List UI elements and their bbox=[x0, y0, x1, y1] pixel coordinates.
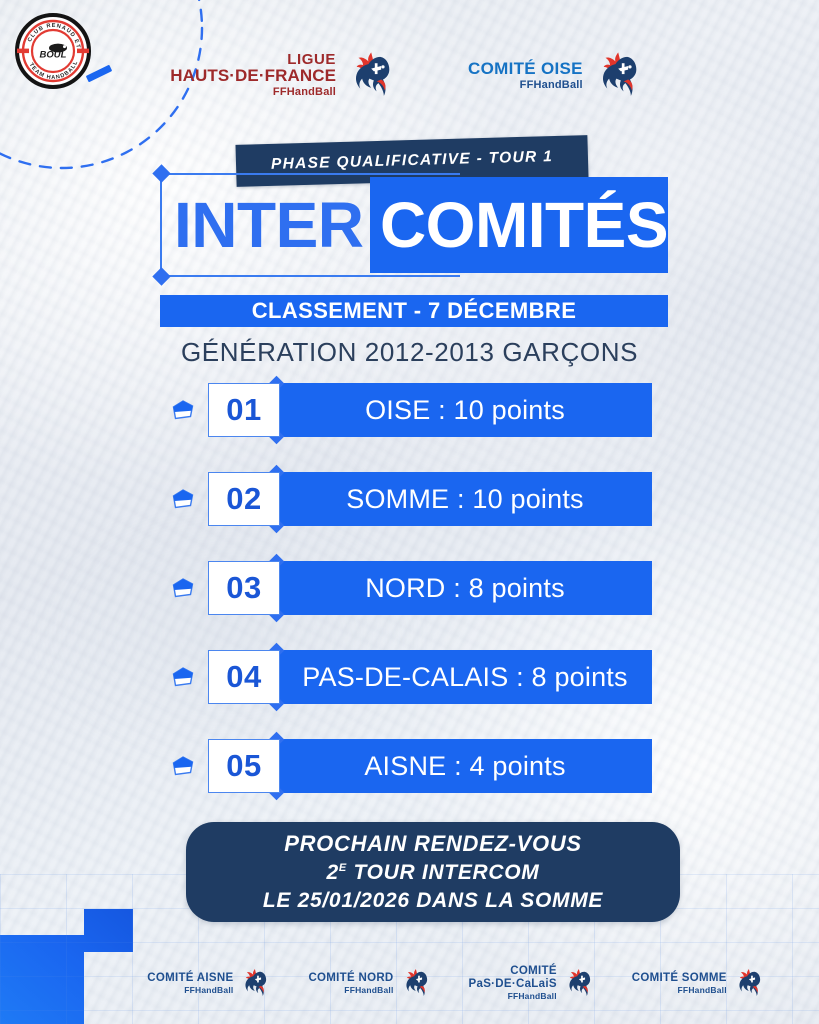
rank-result-bar: AISNE : 4 points bbox=[278, 739, 652, 793]
ffhandball-rooster-icon bbox=[562, 965, 598, 1001]
rank-result-label: SOMME : 10 points bbox=[346, 484, 584, 515]
footer-logo-nord-sub: FFHandBall bbox=[344, 986, 393, 995]
rank-result-label: NORD : 8 points bbox=[365, 573, 565, 604]
logo-comite-oise: COMITÉ OISE FFHandBall bbox=[468, 46, 649, 104]
footer-logo-pdc-line1: COMITÉ bbox=[510, 965, 557, 977]
next-meeting-line2-sup: E bbox=[339, 862, 347, 874]
header-logos: LIGUE HAUTS·DE·FRANCE FFHandBall COMITÉ … bbox=[0, 40, 819, 110]
pentagon-bullet-icon bbox=[172, 667, 194, 687]
logo-oise-wordmark: COMITÉ OISE FFHandBall bbox=[468, 60, 583, 91]
ranking-row: 03 NORD : 8 points bbox=[0, 560, 819, 616]
rank-number: 05 bbox=[226, 748, 261, 784]
generation-label: GÉNÉRATION 2012-2013 GARÇONS bbox=[0, 337, 819, 368]
rank-result-label: PAS-DE-CALAIS : 8 points bbox=[302, 662, 627, 693]
rank-number: 01 bbox=[226, 392, 261, 428]
footer-logo-aisne-line1: COMITÉ AISNE bbox=[147, 972, 233, 984]
ranking-row: 01 OISE : 10 points bbox=[0, 382, 819, 438]
rank-number: 03 bbox=[226, 570, 261, 606]
ffhandball-rooster-icon bbox=[591, 46, 649, 104]
logo-ligue-wordmark: LIGUE HAUTS·DE·FRANCE FFHandBall bbox=[170, 52, 336, 98]
rank-number-box: 04 bbox=[208, 650, 280, 704]
footer-logo-comite-aisne: COMITÉ AISNE FFHandBall bbox=[147, 965, 274, 1001]
next-meeting-line1: PROCHAIN RENDEZ-VOUS bbox=[284, 831, 582, 857]
ffhandball-rooster-icon bbox=[399, 965, 435, 1001]
ranking-row: 05 AISNE : 4 points bbox=[0, 738, 819, 794]
classement-bar: CLASSEMENT - 7 DÉCEMBRE bbox=[160, 295, 668, 327]
rank-result-bar: NORD : 8 points bbox=[278, 561, 652, 615]
footer-logo-somme-sub: FFHandBall bbox=[678, 986, 727, 995]
rank-result-bar: PAS-DE-CALAIS : 8 points bbox=[278, 650, 652, 704]
footer-logo-comite-somme: COMITÉ SOMME FFHandBall bbox=[632, 965, 768, 1001]
rank-number-box: 03 bbox=[208, 561, 280, 615]
rank-number: 04 bbox=[226, 659, 261, 695]
ffhandball-rooster-icon bbox=[732, 965, 768, 1001]
next-meeting-line2-rest: TOUR INTERCOM bbox=[347, 861, 540, 884]
pentagon-bullet-icon bbox=[172, 578, 194, 598]
pentagon-bullet-icon bbox=[172, 489, 194, 509]
classement-label: CLASSEMENT - 7 DÉCEMBRE bbox=[252, 298, 577, 324]
logo-ligue-hauts-de-france: LIGUE HAUTS·DE·FRANCE FFHandBall bbox=[170, 46, 402, 104]
logo-ligue-line2: HAUTS·DE·FRANCE bbox=[170, 67, 336, 84]
next-meeting-line2-prefix: 2 bbox=[326, 861, 338, 884]
rank-result-label: OISE : 10 points bbox=[365, 395, 565, 426]
rank-result-label: AISNE : 4 points bbox=[364, 751, 565, 782]
ranking-row: 02 SOMME : 10 points bbox=[0, 471, 819, 527]
ranking-list: 01 OISE : 10 points 02 SOMME : 10 points bbox=[0, 382, 819, 827]
ffhandball-rooster-icon bbox=[344, 46, 402, 104]
rank-number: 02 bbox=[226, 481, 261, 517]
next-meeting-card: PROCHAIN RENDEZ-VOUS 2E TOUR INTERCOM LE… bbox=[186, 822, 680, 922]
footer-logos: COMITÉ AISNE FFHandBall COMITÉ NORD FFHa… bbox=[0, 956, 819, 1010]
logo-oise-line2: COMITÉ OISE bbox=[468, 60, 583, 77]
footer-logo-aisne-sub: FFHandBall bbox=[184, 986, 233, 995]
footer-logo-comite-pas-de-calais: COMITÉ PaS·DE·CaLaiS FFHandBall bbox=[469, 965, 598, 1001]
rank-number-box: 02 bbox=[208, 472, 280, 526]
next-meeting-line2: 2E TOUR INTERCOM bbox=[326, 861, 539, 885]
footer-logo-pdc-line2: PaS·DE·CaLaiS bbox=[469, 978, 557, 990]
poster-root: BOUL CLUB RENAUD ET TEAM HANDBALL LIGUE … bbox=[0, 0, 819, 1024]
footer-logo-nord-line1: COMITÉ NORD bbox=[308, 972, 393, 984]
next-meeting-line3: LE 25/01/2026 DANS LA SOMME bbox=[263, 889, 603, 913]
footer-logo-somme-line1: COMITÉ SOMME bbox=[632, 972, 727, 984]
pentagon-bullet-icon bbox=[172, 400, 194, 420]
rank-number-box: 05 bbox=[208, 739, 280, 793]
footer-logo-pdc-sub: FFHandBall bbox=[508, 992, 557, 1001]
logo-ligue-line1: LIGUE bbox=[170, 52, 336, 67]
rank-result-bar: SOMME : 10 points bbox=[278, 472, 652, 526]
rank-result-bar: OISE : 10 points bbox=[278, 383, 652, 437]
pentagon-bullet-icon bbox=[172, 756, 194, 776]
ranking-row: 04 PAS-DE-CALAIS : 8 points bbox=[0, 649, 819, 705]
main-title: INTER COMITÉS bbox=[160, 177, 668, 273]
title-word-comites: COMITÉS bbox=[370, 177, 668, 273]
ffhandball-rooster-icon bbox=[238, 965, 274, 1001]
title-word-inter: INTER bbox=[160, 177, 370, 273]
logo-ligue-sub: FFHandBall bbox=[273, 87, 336, 98]
phase-ribbon-label: PHASE QUALIFICATIVE - TOUR 1 bbox=[271, 148, 554, 174]
rank-number-box: 01 bbox=[208, 383, 280, 437]
footer-logo-comite-nord: COMITÉ NORD FFHandBall bbox=[308, 965, 434, 1001]
logo-oise-sub: FFHandBall bbox=[520, 80, 583, 91]
